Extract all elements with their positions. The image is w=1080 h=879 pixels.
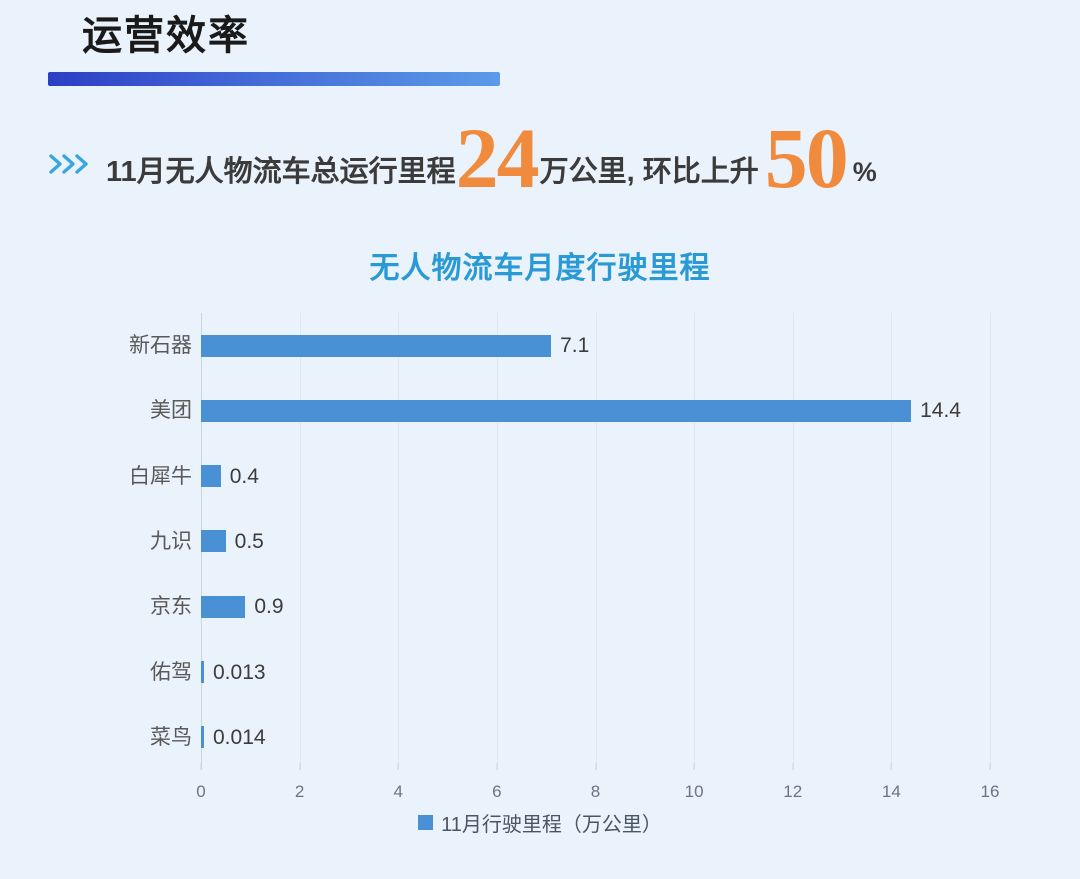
- bar: [201, 465, 221, 487]
- legend-swatch-icon: [418, 815, 433, 830]
- tick-mark: [891, 763, 892, 770]
- tick-mark: [595, 763, 596, 770]
- bar-row: 白犀牛0.4: [201, 444, 990, 509]
- tick-mark: [299, 763, 300, 770]
- category-label: 白犀牛: [129, 466, 192, 487]
- category-label: 九识: [150, 531, 192, 552]
- bar-value-label: 14.4: [920, 400, 961, 421]
- kpi-highlight-line: 11月无人物流车总运行里程 24 万公里, 环比上升 50 %: [48, 118, 1038, 210]
- category-label: 京东: [150, 596, 192, 617]
- category-label: 美团: [150, 400, 192, 421]
- bar-value-label: 0.014: [213, 727, 266, 748]
- legend-label: 11月行驶里程（万公里）: [441, 808, 662, 837]
- kpi-unit-text: 万公里, 环比上升: [540, 148, 759, 190]
- bar-row: 九识0.5: [201, 509, 990, 574]
- bar: [201, 661, 204, 683]
- bar-value-label: 0.9: [254, 596, 283, 617]
- bar-row: 美团14.4: [201, 378, 990, 443]
- kpi-lead-text: 11月无人物流车总运行里程: [106, 148, 456, 190]
- title-underline-gradient: [48, 72, 500, 86]
- tick-mark: [398, 763, 399, 770]
- bar-row: 新石器7.1: [201, 313, 990, 378]
- x-tick-label: 4: [394, 782, 403, 802]
- bar: [201, 726, 204, 748]
- x-tick-label: 12: [783, 782, 802, 802]
- kpi-change-value: 50: [765, 124, 847, 193]
- x-axis-ticks: 0246810121416: [201, 770, 990, 810]
- category-label: 菜鸟: [150, 727, 192, 748]
- tick-mark: [496, 763, 497, 770]
- plot-area: 新石器7.1美团14.4白犀牛0.4九识0.5京东0.9佑驾0.013菜鸟0.0…: [201, 313, 990, 770]
- page-title: 运营效率: [82, 8, 250, 64]
- bar: [201, 400, 911, 422]
- bar-rows: 新石器7.1美团14.4白犀牛0.4九识0.5京东0.9佑驾0.013菜鸟0.0…: [201, 313, 990, 770]
- tick-mark: [792, 763, 793, 770]
- bar-row: 佑驾0.013: [201, 639, 990, 704]
- x-tick-label: 14: [882, 782, 901, 802]
- kpi-percent-symbol: %: [853, 157, 877, 188]
- kpi-total-mileage-value: 24: [456, 124, 538, 193]
- bar: [201, 530, 226, 552]
- triple-chevron-right-icon: [48, 151, 94, 177]
- bar-value-label: 7.1: [560, 335, 589, 356]
- gridline: [990, 313, 991, 770]
- x-tick-label: 10: [685, 782, 704, 802]
- chart-legend: 11月行驶里程（万公里）: [0, 808, 1080, 837]
- bar-chart: 新石器7.1美团14.4白犀牛0.4九识0.5京东0.9佑驾0.013菜鸟0.0…: [0, 300, 1080, 860]
- chart-title: 无人物流车月度行驶里程: [0, 243, 1080, 287]
- x-tick-label: 6: [492, 782, 501, 802]
- tick-mark: [990, 763, 991, 770]
- bar-row: 菜鸟0.014: [201, 705, 990, 770]
- category-label: 新石器: [129, 335, 192, 356]
- bar-value-label: 0.5: [235, 531, 264, 552]
- x-tick-label: 8: [591, 782, 600, 802]
- bar-value-label: 0.4: [230, 466, 259, 487]
- x-tick-label: 16: [981, 782, 1000, 802]
- tick-mark: [201, 763, 202, 770]
- bar: [201, 596, 245, 618]
- bar: [201, 335, 551, 357]
- category-label: 佑驾: [150, 662, 192, 683]
- x-tick-label: 0: [196, 782, 205, 802]
- bar-row: 京东0.9: [201, 574, 990, 639]
- tick-mark: [694, 763, 695, 770]
- x-tick-label: 2: [295, 782, 304, 802]
- bar-value-label: 0.013: [213, 662, 266, 683]
